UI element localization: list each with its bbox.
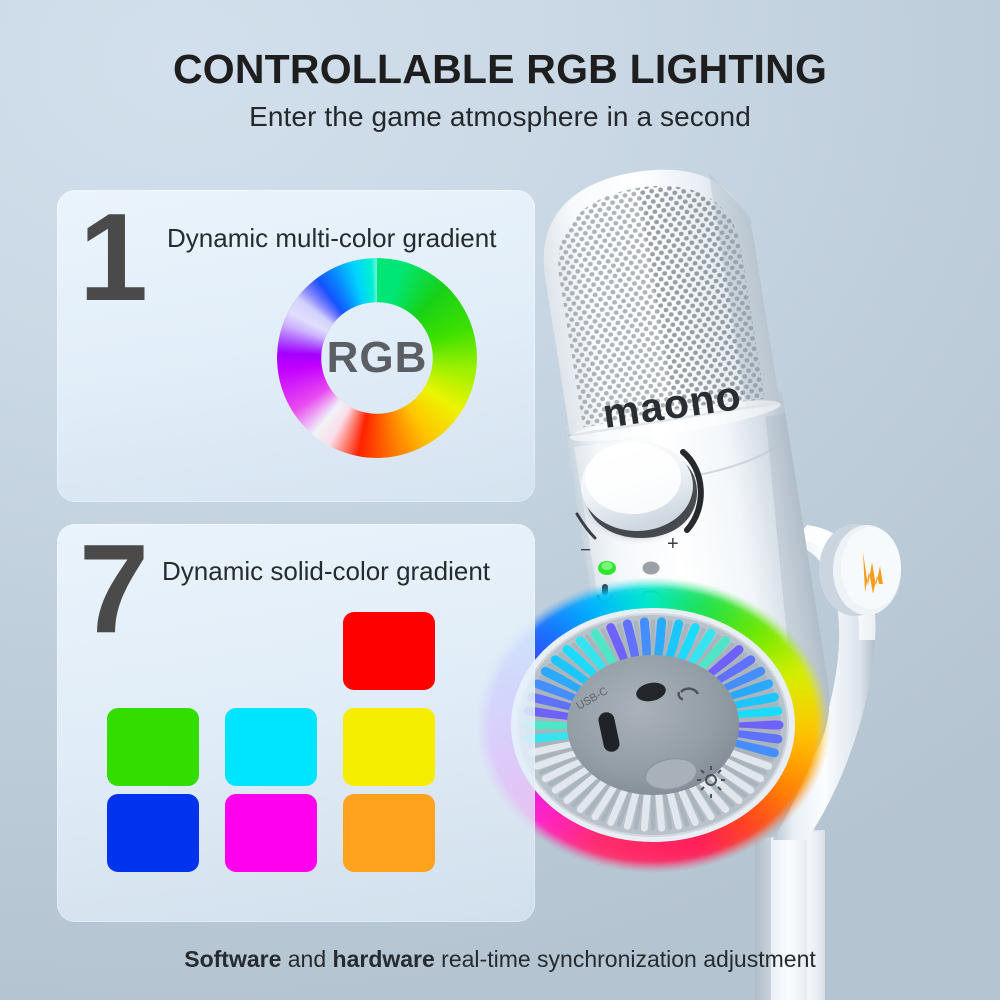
- rgb-color-wheel: RGB: [277, 258, 477, 458]
- page-title: CONTROLLABLE RGB LIGHTING: [0, 48, 1000, 91]
- poster-canvas: maono − +: [0, 0, 1000, 1000]
- feature-card-solidcolor: 7 Dynamic solid-color gradient: [57, 524, 535, 922]
- footer-caption: Software and hardware real-time synchron…: [0, 946, 1000, 973]
- mount-knob[interactable]: [819, 524, 901, 616]
- color-swatch-yellow[interactable]: [343, 708, 435, 786]
- page-subtitle: Enter the game atmosphere in a second: [0, 101, 1000, 133]
- color-swatch-red[interactable]: [343, 612, 435, 690]
- svg-text:−: −: [580, 540, 591, 561]
- color-swatch-orange[interactable]: [343, 794, 435, 872]
- microphone-product-image: maono − +: [455, 140, 1000, 1000]
- card-number: 1: [79, 196, 146, 320]
- color-swatch-magenta[interactable]: [225, 794, 317, 872]
- caption-bold-software: Software: [184, 946, 281, 972]
- caption-rest: real-time synchronization adjustment: [435, 946, 816, 972]
- color-swatch-cyan[interactable]: [225, 708, 317, 786]
- caption-mid: and: [281, 946, 332, 972]
- rgb-ring-label: RGB: [277, 258, 477, 458]
- mic-base-plate: USB-C: [511, 608, 795, 842]
- svg-text:+: +: [667, 533, 679, 555]
- caption-bold-hardware: hardware: [333, 946, 435, 972]
- card-label: Dynamic multi-color gradient: [167, 223, 496, 254]
- color-swatch-blue[interactable]: [107, 794, 199, 872]
- card-label: Dynamic solid-color gradient: [162, 556, 490, 587]
- color-swatch-green[interactable]: [107, 708, 199, 786]
- card-number: 7: [79, 526, 147, 652]
- feature-card-multicolor: 1 Dynamic multi-color gradient RGB: [57, 190, 535, 502]
